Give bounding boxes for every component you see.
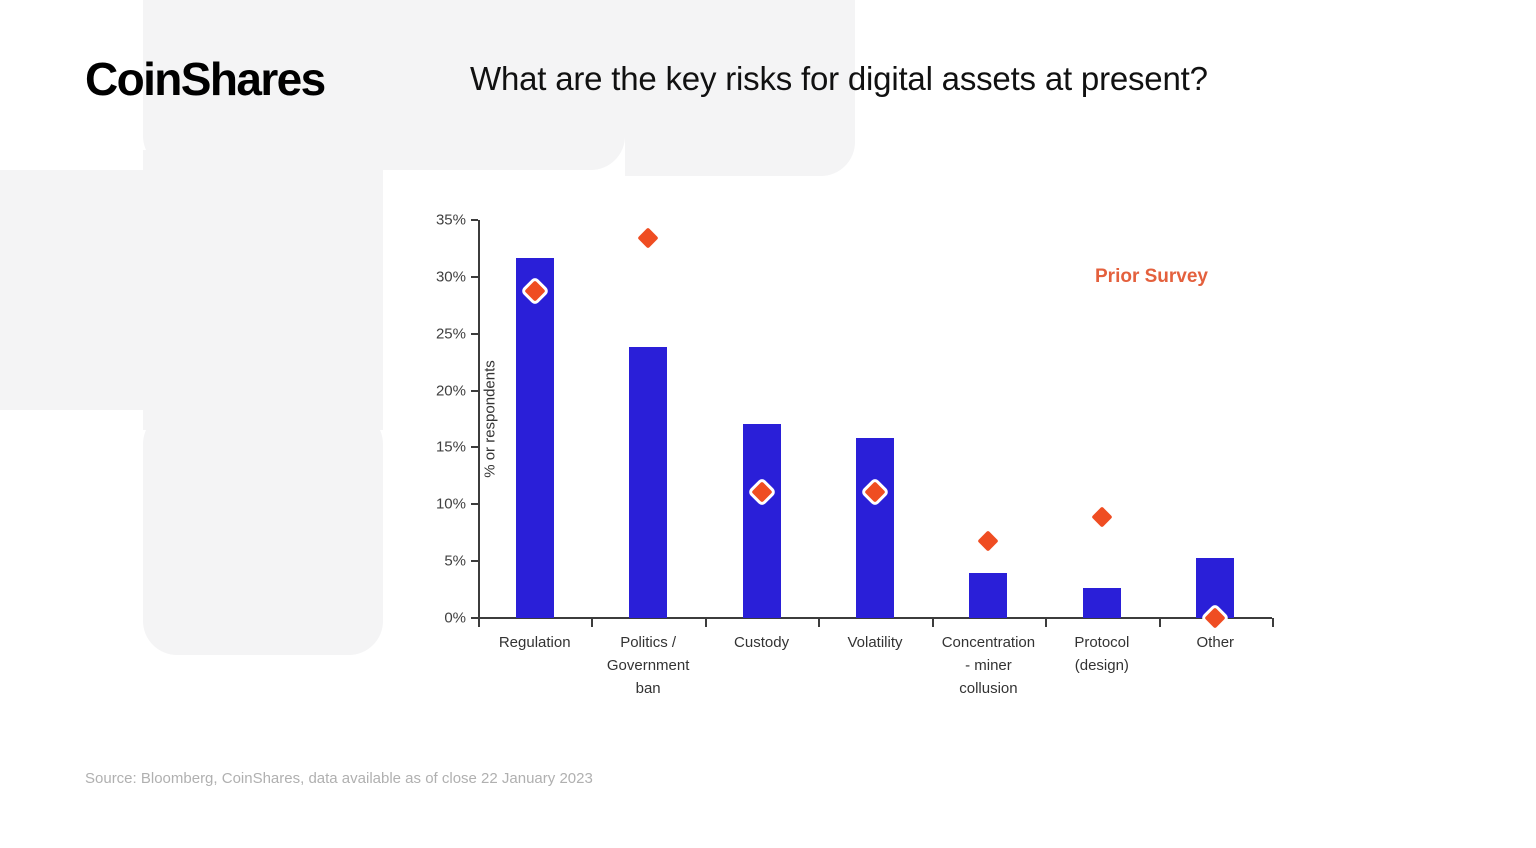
bar-0[interactable] (516, 258, 554, 618)
x-axis-label-line: ban (588, 677, 708, 700)
x-axis-tick (478, 618, 480, 627)
bar-5[interactable] (1083, 588, 1121, 618)
y-axis-tick (471, 219, 478, 221)
bar-3[interactable] (856, 438, 894, 618)
x-axis-category-label-0: Regulation (475, 631, 595, 654)
x-axis-label-line: Volatility (815, 631, 935, 654)
slide-canvas: CoinShares What are the key risks for di… (0, 0, 1536, 848)
y-axis-tick (471, 503, 478, 505)
y-axis-tick-label: 5% (444, 553, 466, 570)
x-axis-label-line: Protocol (1042, 631, 1162, 654)
bar-4[interactable] (969, 573, 1007, 618)
y-axis-tick-label: 35% (436, 212, 466, 229)
background-shape-connector (143, 150, 383, 430)
x-axis-label-line: (design) (1042, 654, 1162, 677)
y-axis-tick-label: 10% (436, 496, 466, 513)
background-shape-bottom-left (143, 410, 383, 655)
x-axis-tick (818, 618, 820, 627)
page-title: What are the key risks for digital asset… (470, 60, 1208, 98)
x-axis-tick (1045, 618, 1047, 627)
bar-2[interactable] (743, 424, 781, 618)
x-axis-tick (705, 618, 707, 627)
prior-survey-marker-5[interactable] (1091, 506, 1112, 527)
x-axis-label-line: Custody (702, 631, 822, 654)
y-axis-tick-label: 25% (436, 325, 466, 342)
x-axis-tick (932, 618, 934, 627)
y-axis-tick (471, 276, 478, 278)
legend-prior-survey: Prior Survey (1095, 266, 1208, 288)
x-axis-label-line: Government (588, 654, 708, 677)
x-axis-category-label-6: Other (1155, 631, 1275, 654)
x-axis-tick (1159, 618, 1161, 627)
coinshares-logo: CoinShares (85, 52, 325, 106)
y-axis-tick (471, 390, 478, 392)
x-axis-label-line: Concentration (928, 631, 1048, 654)
x-axis-label-line: Politics / (588, 631, 708, 654)
y-axis-tick-label: 30% (436, 268, 466, 285)
x-axis-category-label-4: Concentration- minercollusion (928, 631, 1048, 700)
risk-bar-chart: % or respondents 0%5%10%15%20%25%30%35%R… (390, 176, 1290, 706)
x-axis-category-label-1: Politics /Governmentban (588, 631, 708, 700)
prior-survey-marker-1[interactable] (638, 228, 659, 249)
y-axis-line (478, 220, 480, 618)
y-axis-title: % or respondents (482, 360, 499, 478)
x-axis-label-line: Regulation (475, 631, 595, 654)
x-axis-label-line: - miner (928, 654, 1048, 677)
y-axis-tick (471, 446, 478, 448)
y-axis-tick-label: 20% (436, 382, 466, 399)
bar-1[interactable] (629, 347, 667, 618)
x-axis-tick (1272, 618, 1274, 627)
x-axis-category-label-2: Custody (702, 631, 822, 654)
y-axis-tick (471, 560, 478, 562)
x-axis-label-line: collusion (928, 677, 1048, 700)
x-axis-category-label-5: Protocol(design) (1042, 631, 1162, 677)
x-axis-category-label-3: Volatility (815, 631, 935, 654)
y-axis-tick-label: 0% (444, 610, 466, 627)
y-axis-tick-label: 15% (436, 439, 466, 456)
y-axis-tick (471, 333, 478, 335)
x-axis-tick (591, 618, 593, 627)
y-axis-tick (471, 617, 478, 619)
prior-survey-marker-4[interactable] (978, 530, 999, 551)
source-note: Source: Bloomberg, CoinShares, data avai… (85, 770, 593, 787)
x-axis-label-line: Other (1155, 631, 1275, 654)
